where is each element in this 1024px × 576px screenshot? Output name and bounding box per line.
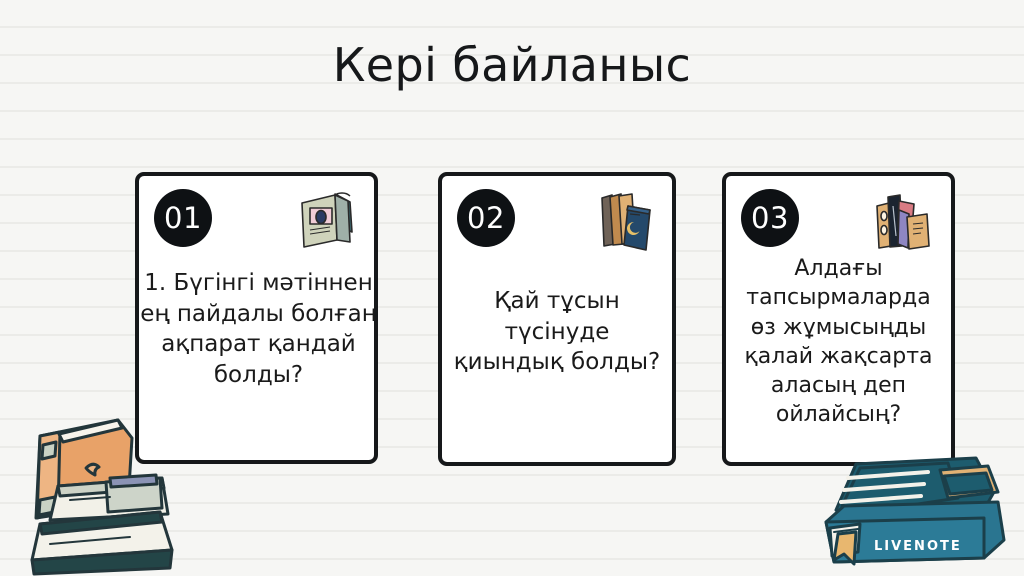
open-book-on-stack-illustration [10, 408, 188, 576]
question-card-03[interactable]: 03 Алдағы тапсырмаларда өз жұмысыңды қал… [722, 172, 955, 466]
card-question-text-01: 1. Бүгінгі мәтіннен ең пайдалы болған ақ… [137, 268, 380, 390]
card-question-text-02: Қай тұсын түсінуде қиындық болды? [448, 286, 666, 378]
livenote-logo-text: LIVENOTE [874, 539, 962, 554]
open-book-with-portrait-icon [290, 184, 364, 258]
stacked-books-moon-icon [588, 184, 662, 258]
card-number-badge-01: 01 [154, 189, 212, 247]
page-title: Кері байланыс [0, 38, 1024, 92]
livenote-books-illustration: LIVENOTE [808, 448, 1016, 576]
card-number-badge-03: 03 [741, 189, 799, 247]
row-of-books-icon [867, 184, 941, 258]
card-question-text-03: Алдағы тапсырмаларда өз жұмысыңды қалай … [732, 254, 945, 430]
question-card-02[interactable]: 02 Қай тұсын түсінуде қиындық болды? [438, 172, 676, 466]
card-number-badge-02: 02 [457, 189, 515, 247]
